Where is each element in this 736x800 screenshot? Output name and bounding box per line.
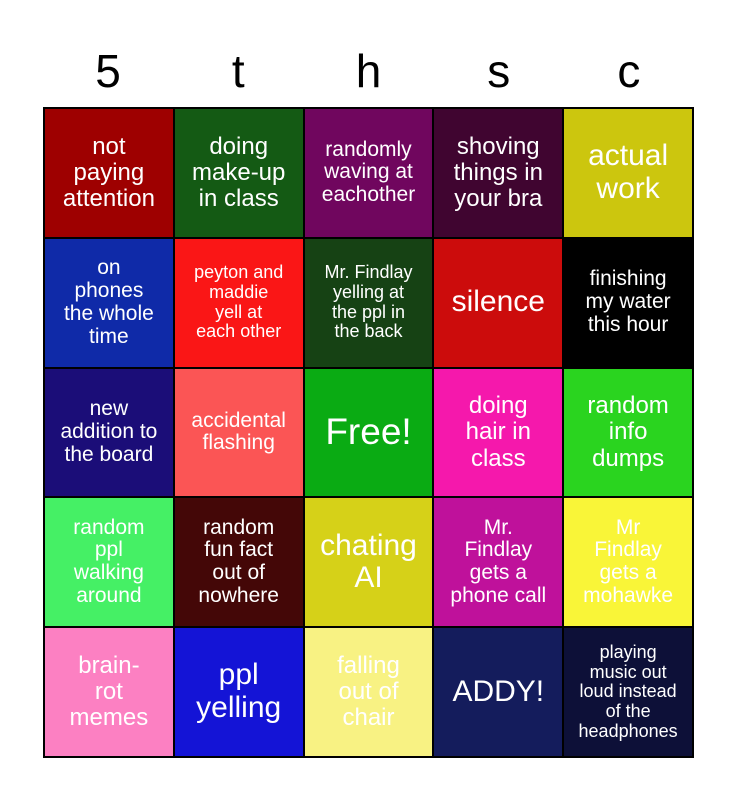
bingo-cell-label: Mr. Findlay gets a phone call	[438, 517, 558, 609]
bingo-cell-11[interactable]: accidental flashing	[175, 369, 303, 497]
bingo-cell-14[interactable]: random info dumps	[564, 369, 692, 497]
bingo-cell-label: Mr Findlay gets a mohawke	[568, 517, 688, 609]
bingo-cell-label: doing make-up in class	[179, 134, 299, 212]
bingo-cell-17[interactable]: chating AI	[305, 498, 433, 626]
bingo-header-letter-1: t	[173, 38, 303, 104]
bingo-cell-label: actual work	[568, 140, 688, 205]
bingo-cell-label: new addition to the board	[49, 398, 169, 467]
bingo-cell-6[interactable]: peyton and maddie yell at each other	[175, 239, 303, 367]
bingo-cell-label: falling out of chair	[309, 653, 429, 731]
bingo-cell-label: random fun fact out of nowhere	[179, 517, 299, 609]
bingo-cell-5[interactable]: on phones the whole time	[45, 239, 173, 367]
bingo-cell-19[interactable]: Mr Findlay gets a mohawke	[564, 498, 692, 626]
bingo-header-letter-0: 5	[43, 38, 173, 104]
bingo-cell-2[interactable]: randomly waving at eachother	[305, 109, 433, 237]
bingo-cell-label: shoving things in your bra	[438, 134, 558, 212]
bingo-cell-label: randomly waving at eachother	[309, 139, 429, 208]
bingo-cell-label: peyton and maddie yell at each other	[179, 263, 299, 341]
bingo-cell-3[interactable]: shoving things in your bra	[434, 109, 562, 237]
bingo-cell-label: ADDY!	[438, 676, 558, 709]
bingo-header-row: 5thsc	[43, 38, 694, 104]
bingo-cell-7[interactable]: Mr. Findlay yelling at the ppl in the ba…	[305, 239, 433, 367]
bingo-cell-label: accidental flashing	[179, 410, 299, 456]
bingo-cell-label: silence	[438, 286, 558, 319]
bingo-cell-0[interactable]: not paying attention	[45, 109, 173, 237]
bingo-card: 5thsc not paying attentiondoing make-up …	[0, 0, 736, 800]
bingo-cell-label: finishing my water this hour	[568, 268, 688, 337]
bingo-cell-label: Mr. Findlay yelling at the ppl in the ba…	[309, 263, 429, 341]
bingo-grid: not paying attentiondoing make-up in cla…	[43, 107, 694, 758]
bingo-cell-label: chating AI	[309, 530, 429, 595]
bingo-cell-label: ppl yelling	[179, 659, 299, 724]
bingo-cell-label: brain- rot memes	[49, 653, 169, 731]
bingo-header-letter-2: h	[303, 38, 433, 104]
bingo-cell-9[interactable]: finishing my water this hour	[564, 239, 692, 367]
bingo-cell-22[interactable]: falling out of chair	[305, 628, 433, 756]
bingo-cell-1[interactable]: doing make-up in class	[175, 109, 303, 237]
bingo-header-letter-3: s	[434, 38, 564, 104]
bingo-cell-label: random info dumps	[568, 393, 688, 471]
bingo-cell-label: on phones the whole time	[49, 257, 169, 349]
bingo-cell-18[interactable]: Mr. Findlay gets a phone call	[434, 498, 562, 626]
bingo-cell-8[interactable]: silence	[434, 239, 562, 367]
bingo-cell-13[interactable]: doing hair in class	[434, 369, 562, 497]
bingo-cell-16[interactable]: random fun fact out of nowhere	[175, 498, 303, 626]
bingo-cell-label: Free!	[309, 412, 429, 452]
bingo-cell-4[interactable]: actual work	[564, 109, 692, 237]
bingo-cell-label: doing hair in class	[438, 393, 558, 471]
bingo-cell-label: random ppl walking around	[49, 517, 169, 609]
bingo-cell-label: not paying attention	[49, 134, 169, 212]
bingo-cell-free-space[interactable]: Free!	[305, 369, 433, 497]
bingo-cell-23[interactable]: ADDY!	[434, 628, 562, 756]
bingo-cell-24[interactable]: playing music out loud instead of the he…	[564, 628, 692, 756]
bingo-cell-15[interactable]: random ppl walking around	[45, 498, 173, 626]
bingo-cell-10[interactable]: new addition to the board	[45, 369, 173, 497]
bingo-header-letter-4: c	[564, 38, 694, 104]
bingo-cell-label: playing music out loud instead of the he…	[568, 643, 688, 741]
bingo-cell-20[interactable]: brain- rot memes	[45, 628, 173, 756]
bingo-cell-21[interactable]: ppl yelling	[175, 628, 303, 756]
